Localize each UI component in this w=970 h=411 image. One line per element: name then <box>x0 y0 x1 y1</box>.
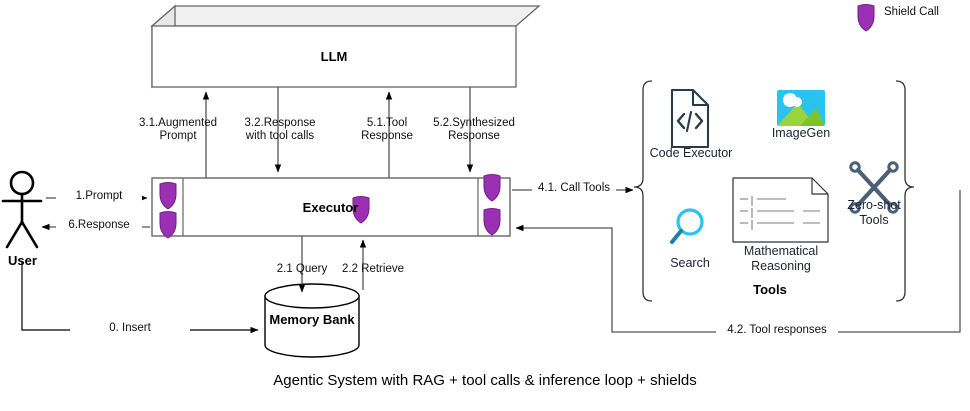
formula-document-icon <box>733 178 828 242</box>
shield-icon-legend <box>858 5 874 32</box>
flow-label-2-2: 2.2 Retrieve <box>332 263 414 276</box>
flow-label-5-2: 5.2.Synthesized Response <box>427 117 521 143</box>
tool-label-code-executor: Code Executor <box>645 146 737 161</box>
llm-node <box>152 6 539 87</box>
flow-label-0: 0. Insert <box>70 322 190 335</box>
legend-shield-label: Shield Call <box>884 6 939 18</box>
executor-label: Executor <box>183 200 478 215</box>
tools-group-label: Tools <box>700 282 840 297</box>
tool-label-zero-shot-tools: Zero-shot Tools <box>835 198 913 228</box>
memory-bank-label: Memory Bank <box>265 312 359 327</box>
user-actor-icon <box>3 172 41 247</box>
flow-label-5-1: 5.1.Tool Response <box>347 117 427 143</box>
flow-label-3-1: 3.1.Augmented Prompt <box>138 117 218 143</box>
flow-label-4-2: 4.2. Tool responses <box>716 324 838 337</box>
llm-label: LLM <box>152 49 516 64</box>
diagram-caption: Agentic System with RAG + tool calls & i… <box>0 372 970 389</box>
flow-label-6: 6.Response <box>56 219 142 232</box>
flow-label-4-1: 4.1. Call Tools <box>532 182 616 195</box>
tool-label-search: Search <box>655 256 725 271</box>
image-icon <box>777 90 825 126</box>
flow-label-3-2: 3.2.Response with tool calls <box>232 117 328 143</box>
user-label: User <box>0 253 45 268</box>
flow-0-insert-arrow <box>22 262 258 330</box>
magnifier-icon <box>672 210 702 242</box>
tool-label-imagegen: ImageGen <box>760 126 842 141</box>
flow-label-2-1: 2.1 Query <box>266 263 338 276</box>
code-document-icon <box>672 90 708 147</box>
tool-label-math-reasoning: Mathematical Reasoning <box>726 244 836 274</box>
flow-label-1: 1.Prompt <box>56 190 142 203</box>
